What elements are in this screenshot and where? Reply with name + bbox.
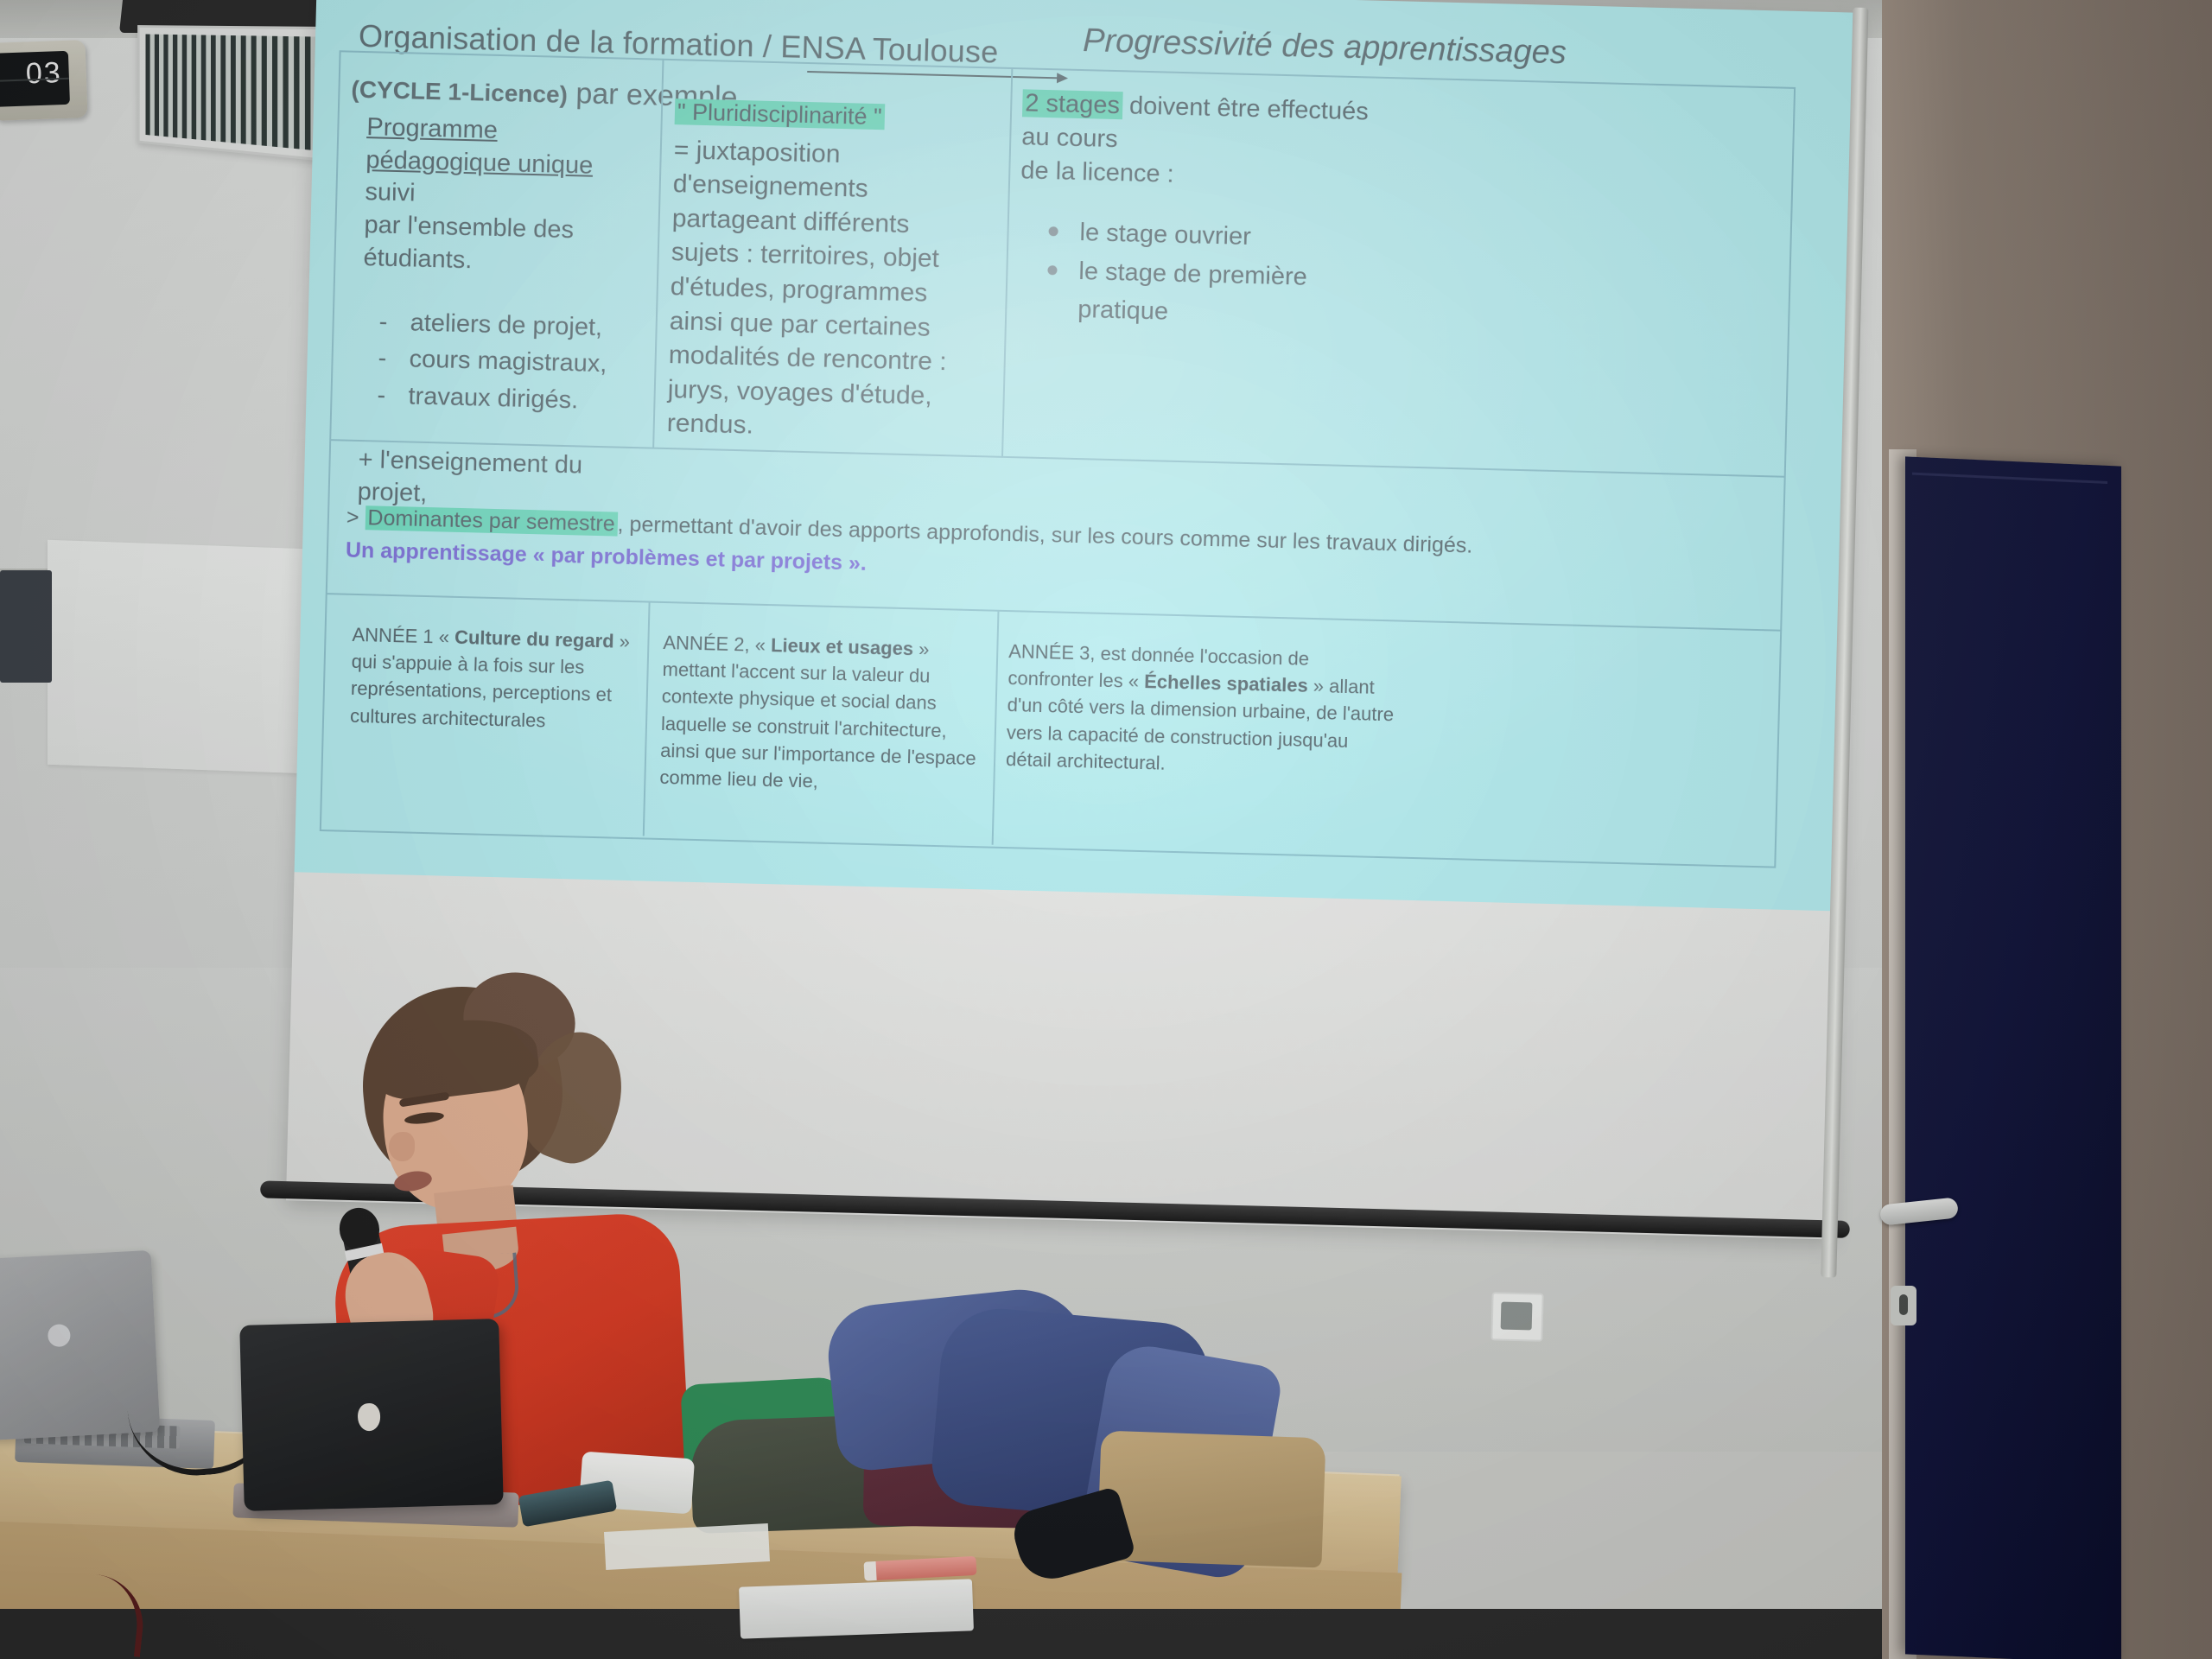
clock-digits: 03 (25, 56, 62, 91)
slide-cell-programme: Programme pédagogique unique suivi par l… (357, 111, 644, 516)
slide-divider-v2 (1001, 69, 1013, 456)
annee2-rest: » mettant l'accent sur la valeur du cont… (659, 638, 976, 791)
list-item: travaux dirigés. (359, 377, 637, 420)
door-lock[interactable] (1891, 1286, 1916, 1325)
door-top-edge (1912, 473, 2107, 484)
projected-slide: Organisation de la formation / ENSA Toul… (295, 0, 1864, 912)
clock-face: 03 (0, 51, 70, 108)
list-item: le stage de première pratique (1017, 251, 1390, 338)
stages-line2: de la licence : (1020, 154, 1393, 197)
programme-bullet-list: ateliers de projet, cours magistraux, tr… (359, 303, 639, 419)
annee1-prefix: ANNÉE 1 « (352, 624, 454, 648)
pluridisciplinarite-highlight: " Pluridisciplinarité " (675, 99, 885, 130)
annee3-bold: Échelles spatiales (1144, 671, 1308, 696)
laptop-black-logo-icon (358, 1403, 381, 1432)
slide-divider-v1 (652, 60, 664, 448)
programme-line2: par l'ensemble des étudiants. (363, 209, 641, 281)
floor (0, 1609, 2212, 1659)
wall-clock: 03 (0, 40, 88, 121)
dominantes-highlight: Dominantes par semestre (365, 505, 618, 536)
wall-panel-left (48, 540, 307, 773)
paper-stack (739, 1579, 974, 1638)
slide-cell-stages: 2 stages doivent être effectués au cours… (1017, 86, 1395, 337)
annee2-bold: Lieux et usages (771, 634, 914, 659)
slide-cell-annee-1: ANNÉE 1 « Culture du regard » qui s'appu… (350, 621, 655, 737)
slide-cell-pluridisciplinarite: " Pluridisciplinarité " = juxtaposition … (666, 97, 986, 448)
slide-cell-annee-3: ANNÉE 3, est donnée l'occasion de confro… (1006, 638, 1398, 783)
stages-bullet-list: le stage ouvrier le stage de première pr… (1017, 212, 1391, 338)
annee1-bold: Culture du regard (454, 626, 614, 652)
slide-divider-v4 (992, 610, 1000, 845)
wall-socket (1491, 1292, 1543, 1341)
air-vent-louvres (145, 35, 326, 152)
pluridisciplinarite-body: = juxtaposition d'enseignements partagea… (666, 133, 985, 448)
stages-highlight: 2 stages (1022, 89, 1122, 119)
dominantes-prefix: > (346, 505, 365, 531)
programme-heading-underlined: Programme pédagogique unique (365, 113, 594, 179)
air-vent (137, 25, 336, 162)
lecture-hall-photo: 03 Organisation de la formation / ENSA T… (0, 0, 2212, 1659)
programme-heading-rest: suivi (365, 178, 416, 207)
laptop-silver-logo-icon (48, 1324, 71, 1347)
laptop-black-lid (239, 1319, 504, 1511)
slide-right-title: Progressivité des apprentissages (1083, 22, 1567, 72)
slide-cell-annee-2: ANNÉE 2, « Lieux et usages » mettant l'a… (659, 629, 992, 799)
door-navy[interactable] (1905, 456, 2121, 1659)
wall-fixture-dark (0, 570, 52, 683)
annee2-prefix: ANNÉE 2, « (663, 632, 771, 656)
speaker-nose (389, 1132, 415, 1161)
slide-content: Organisation de la formation / ENSA Toul… (295, 0, 1864, 912)
